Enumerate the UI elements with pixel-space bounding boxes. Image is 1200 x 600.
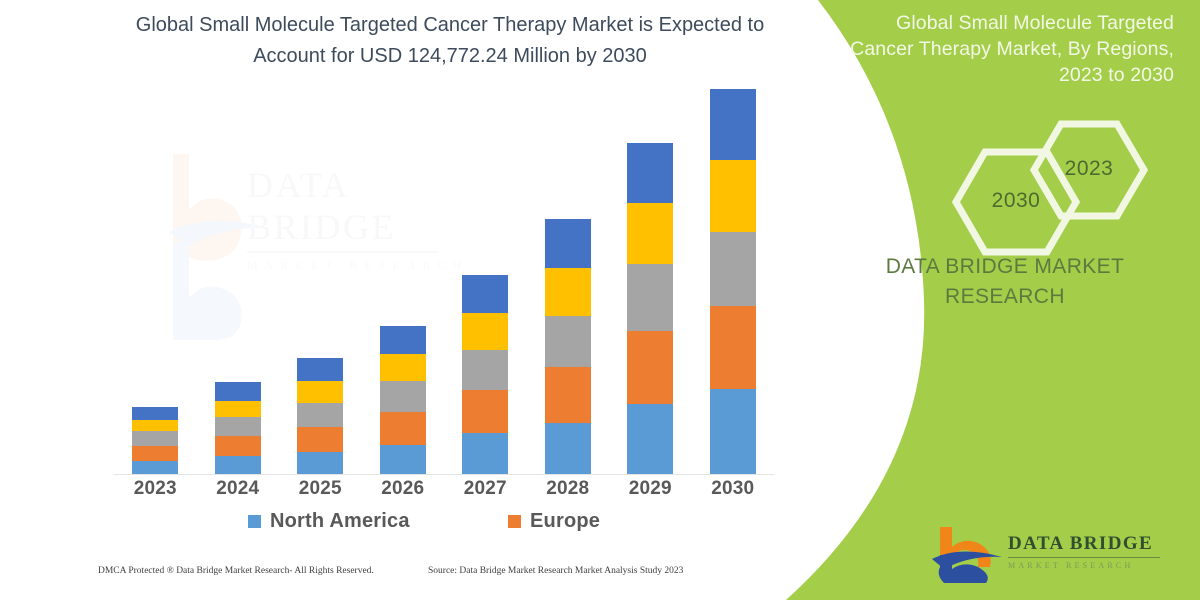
brand-logo: DATA BRIDGE MARKET RESEARCH [930,525,1180,587]
page-title: Global Small Molecule Targeted Cancer Th… [120,10,780,72]
legend-swatch [248,515,261,528]
bar-segment[interactable] [710,160,756,232]
bar-segment[interactable] [545,316,591,367]
panel-title: Global Small Molecule Targeted Cancer Th… [844,10,1174,88]
x-axis-label: 2025 [277,478,363,500]
chart-legend: North AmericaEurope [100,510,780,542]
bar-segment[interactable] [297,358,343,381]
bar-segment[interactable] [132,407,178,420]
bar-segment[interactable] [380,412,426,445]
brand-logo-mark-icon [930,525,1004,583]
x-axis-label: 2030 [690,478,776,500]
x-axis-label: 2023 [112,478,198,500]
bar-segment[interactable] [297,403,343,427]
bar-segment[interactable] [215,401,261,418]
bar-group[interactable] [132,407,178,474]
infographic-root: Global Small Molecule Targeted Cancer Th… [0,0,1200,600]
bar-group[interactable] [215,382,261,474]
footer-copyright: DMCA Protected ® Data Bridge Market Rese… [98,566,374,576]
hexagon-2023-label: 2023 [1030,157,1148,181]
bar-segment[interactable] [215,436,261,456]
bar-segment[interactable] [710,306,756,389]
bar-segment[interactable] [710,389,756,474]
bar-group[interactable] [545,219,591,474]
bar-segment[interactable] [710,232,756,306]
bar-segment[interactable] [462,275,508,313]
x-axis-label: 2024 [195,478,281,500]
brand-logo-text: DATA BRIDGE MARKET RESEARCH [1008,533,1160,570]
bar-segment[interactable] [710,89,756,160]
bar-segment[interactable] [132,420,178,431]
bar-group[interactable] [710,89,756,474]
bar-segment[interactable] [215,417,261,436]
bar-group[interactable] [462,275,508,474]
x-axis-line [114,474,774,475]
bar-segment[interactable] [380,354,426,381]
legend-label: Europe [530,510,600,533]
bar-segment[interactable] [132,461,178,474]
x-axis-label: 2028 [525,478,611,500]
legend-item[interactable]: North America [248,510,410,533]
bar-segment[interactable] [132,431,178,446]
bar-segment[interactable] [545,219,591,268]
bar-segment[interactable] [380,381,426,412]
bar-segment[interactable] [545,367,591,423]
bar-segment[interactable] [215,456,261,474]
x-axis-label: 2027 [442,478,528,500]
hexagon-2023: 2023 [1030,118,1148,222]
x-axis-tick-labels: 20232024202520262027202820292030 [100,478,780,506]
bar-segment[interactable] [297,427,343,452]
legend-item[interactable]: Europe [508,510,600,533]
footer: DMCA Protected ® Data Bridge Market Rese… [0,566,790,590]
bar-segment[interactable] [627,143,673,203]
bar-group[interactable] [297,358,343,474]
bar-segment[interactable] [627,203,673,264]
bar-segment[interactable] [545,268,591,316]
brand-logo-subtitle: MARKET RESEARCH [1008,561,1160,570]
bar-segment[interactable] [380,445,426,474]
stacked-bar-chart [100,140,780,475]
bar-segment[interactable] [462,433,508,474]
bar-segment[interactable] [297,381,343,402]
legend-label: North America [270,510,410,533]
bar-segment[interactable] [462,313,508,350]
bar-segment[interactable] [380,326,426,355]
bar-segment[interactable] [627,331,673,403]
bar-segment[interactable] [627,404,673,475]
footer-source: Source: Data Bridge Market Research Mark… [428,566,683,576]
bar-segment[interactable] [215,382,261,401]
bar-segment[interactable] [462,390,508,434]
legend-swatch [508,515,521,528]
green-side-panel: Global Small Molecule Targeted Cancer Th… [780,0,1200,600]
brand-logo-rule [1008,557,1160,558]
bar-group[interactable] [380,326,426,474]
chart-plot-area [100,140,780,474]
bar-segment[interactable] [545,423,591,474]
bar-segment[interactable] [627,264,673,331]
hexagon-group: 2030 2023 [880,118,1200,238]
bar-segment[interactable] [297,452,343,474]
bar-segment[interactable] [132,446,178,461]
bar-group[interactable] [627,143,673,474]
bar-segment[interactable] [462,350,508,390]
brand-logo-title: DATA BRIDGE [1008,533,1160,555]
x-axis-label: 2029 [607,478,693,500]
panel-brand-text: DATA BRIDGE MARKET RESEARCH [840,252,1170,312]
x-axis-label: 2026 [360,478,446,500]
